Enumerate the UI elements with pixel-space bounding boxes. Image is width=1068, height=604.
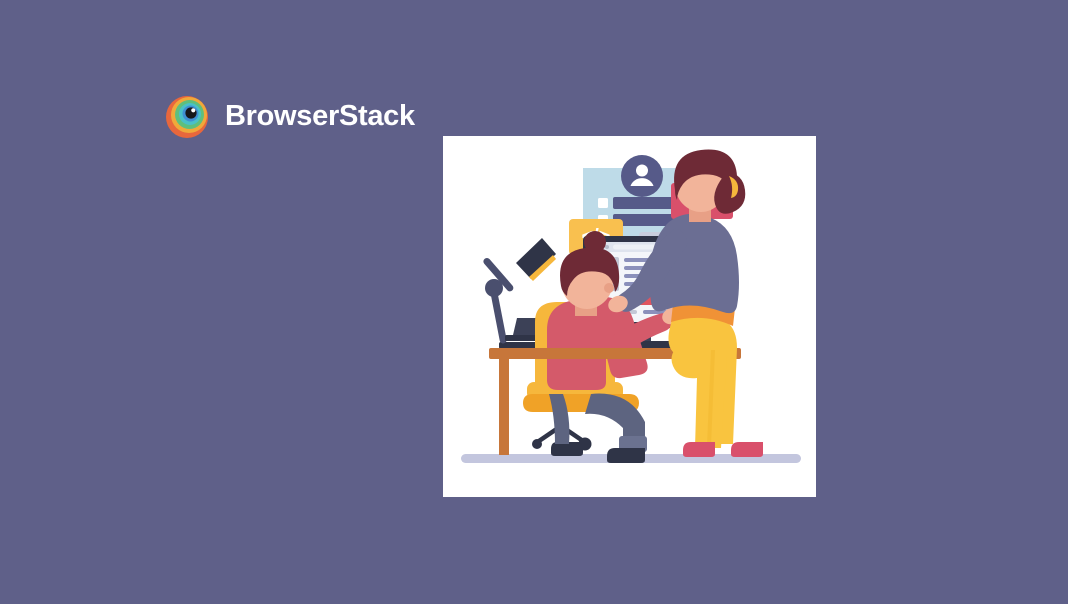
illustration-panel: Two developers collaborating at a desk o…	[443, 136, 816, 497]
page-root: BrowserStack Two developers collaboratin…	[0, 0, 1068, 604]
brand-wordmark: BrowserStack	[225, 102, 415, 131]
brand-lockup: BrowserStack	[165, 93, 415, 139]
browserstack-eye-logo-icon	[165, 93, 211, 139]
avatar-icon	[621, 155, 663, 197]
